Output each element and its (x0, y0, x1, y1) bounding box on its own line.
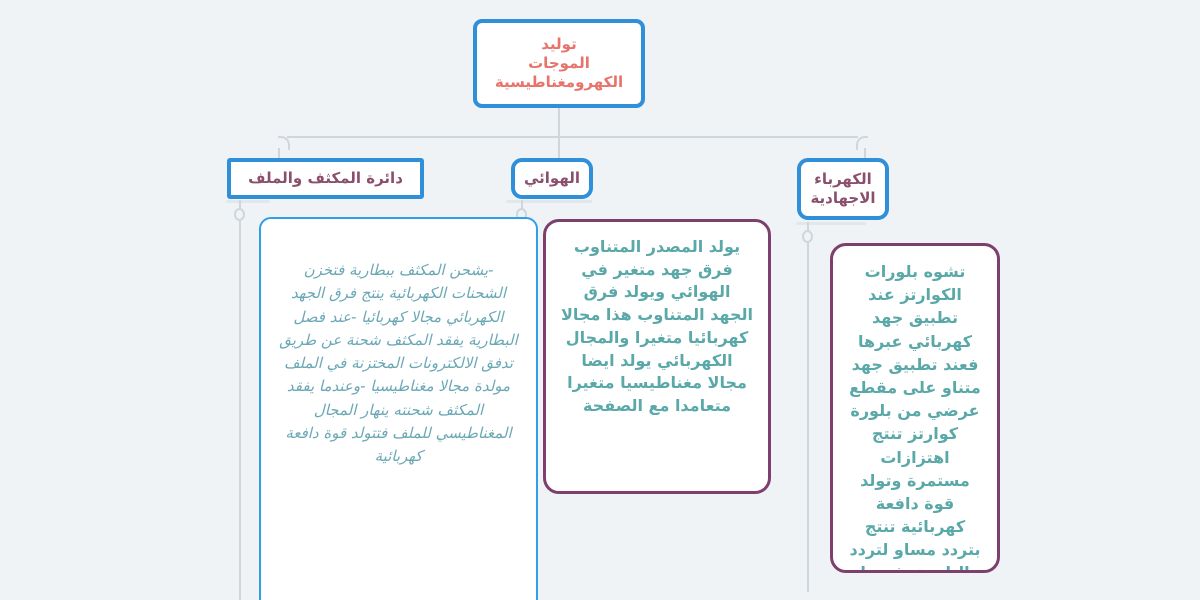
mindmap-canvas: -يشحن المكثف ببطارية فتخزن الشحنات الكهر… (0, 0, 1200, 600)
connector-drop-left (278, 148, 280, 158)
connector-spine (287, 136, 858, 138)
connector-stem-right (807, 222, 809, 592)
connector-elbow-right (856, 136, 868, 150)
leaf-box-antenna: يولد المصدر المتناوب فرق جهد متغير في ال… (543, 219, 771, 494)
branch-label-antenna: الهوائي (524, 169, 580, 188)
connector-root-stem (558, 108, 560, 136)
leaf-box-capacitor-coil-circuit: -يشحن المكثف ببطارية فتخزن الشحنات الكهر… (259, 217, 538, 600)
leaf-text-piezoelectricity: تشوه بلورات الكوارتز عند تطبيق جهد كهربا… (847, 260, 983, 573)
connector-stem-left (239, 200, 241, 600)
root-node[interactable]: توليد الموجات الكهرومغناطيسية (473, 19, 645, 108)
leaf-box-piezoelectricity: تشوه بلورات الكوارتز عند تطبيق جهد كهربا… (830, 243, 1000, 573)
connector-drop-center (558, 136, 560, 158)
leaf-text-capacitor-coil-circuit: -يشحن المكثف ببطارية فتخزن الشحنات الكهر… (277, 259, 520, 468)
branch-node-piezoelectricity[interactable]: الكهرباء الاجهادية (797, 158, 889, 220)
leaf-text-antenna: يولد المصدر المتناوب فرق جهد متغير في ال… (560, 236, 754, 418)
connector-dot-left (234, 208, 245, 221)
connector-stub-center (506, 200, 592, 203)
connector-drop-right (864, 148, 866, 158)
branch-node-capacitor-coil-circuit[interactable]: دائرة المكثف والملف (227, 158, 424, 199)
branch-label-capacitor-coil-circuit: دائرة المكثف والملف (248, 169, 403, 188)
branch-label-piezoelectricity: الكهرباء الاجهادية (810, 170, 875, 208)
branch-node-antenna[interactable]: الهوائي (511, 158, 593, 199)
connector-stub-left (226, 200, 270, 203)
root-node-label: توليد الموجات الكهرومغناطيسية (495, 35, 623, 93)
connector-dot-right (802, 230, 813, 243)
